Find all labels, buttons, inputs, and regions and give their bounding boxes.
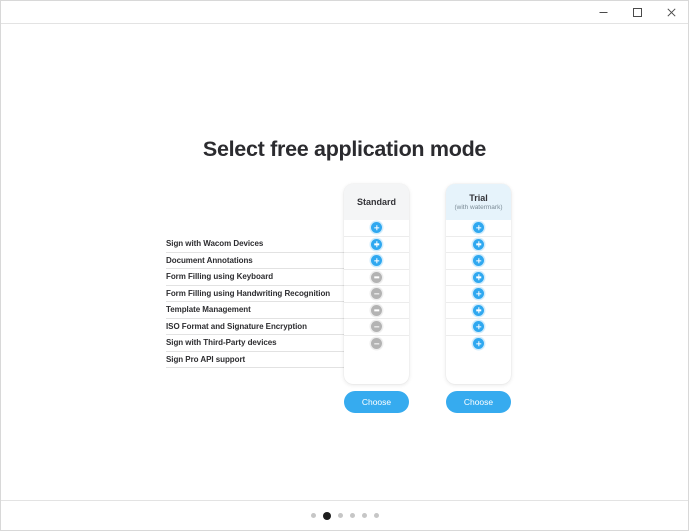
plan-feature-column-trial: [446, 220, 511, 352]
plus-icon: [473, 239, 484, 250]
feature-cell-trial: [446, 286, 511, 303]
plus-icon: [473, 338, 484, 349]
feature-label: Template Management: [166, 305, 251, 314]
feature-row: ISO Format and Signature Encryption: [166, 319, 346, 336]
pager-dot[interactable]: [311, 513, 316, 518]
plus-icon: [473, 222, 484, 233]
feature-cell-trial: [446, 270, 511, 287]
feature-cell-trial: [446, 319, 511, 336]
feature-cell-standard: [344, 220, 409, 237]
plan-title-standard: Standard: [357, 197, 396, 207]
feature-label: Document Annotations: [166, 256, 253, 265]
feature-row: Form Filling using Handwriting Recogniti…: [166, 286, 346, 303]
feature-cell-standard: [344, 286, 409, 303]
feature-cell-trial: [446, 336, 511, 353]
feature-label: Sign with Wacom Devices: [166, 239, 263, 248]
plan-title-trial: Trial: [469, 193, 488, 203]
content-area: Select free application mode Sign with W…: [1, 24, 688, 500]
maximize-button[interactable]: [620, 1, 654, 23]
close-icon: [666, 7, 677, 18]
plus-icon: [371, 222, 382, 233]
feature-cell-trial: [446, 237, 511, 254]
feature-label: Sign Pro API support: [166, 355, 245, 364]
minimize-icon: [598, 7, 609, 18]
plus-icon: [473, 272, 484, 283]
feature-cell-trial: [446, 220, 511, 237]
feature-cell-standard: [344, 237, 409, 254]
pager-dot-active[interactable]: [323, 512, 331, 520]
choose-standard-button[interactable]: Choose: [344, 391, 409, 413]
feature-cell-trial: [446, 303, 511, 320]
feature-cell-standard: [344, 319, 409, 336]
plus-icon: [473, 288, 484, 299]
feature-cell-standard: [344, 253, 409, 270]
title-bar: [1, 1, 688, 24]
choose-trial-button[interactable]: Choose: [446, 391, 511, 413]
feature-row: Template Management: [166, 302, 346, 319]
feature-label: ISO Format and Signature Encryption: [166, 322, 307, 331]
plan-feature-column-standard: [344, 220, 409, 352]
plan-subtitle-trial: (with watermark): [454, 204, 502, 211]
pager-dots: [311, 512, 379, 520]
pager-dot[interactable]: [374, 513, 379, 518]
plus-icon: [371, 239, 382, 250]
plan-header-trial: Trial (with watermark): [446, 184, 511, 220]
feature-row: Form Filling using Keyboard: [166, 269, 346, 286]
feature-row: Sign with Wacom Devices: [166, 236, 346, 253]
close-button[interactable]: [654, 1, 688, 23]
feature-cell-standard: [344, 336, 409, 353]
plan-card-trial: Trial (with watermark): [446, 184, 511, 384]
minus-icon: [371, 321, 382, 332]
plus-icon: [473, 255, 484, 266]
feature-label-column: Sign with Wacom DevicesDocument Annotati…: [166, 236, 346, 368]
application-window: Select free application mode Sign with W…: [0, 0, 689, 531]
plus-icon: [473, 305, 484, 316]
minus-icon: [371, 338, 382, 349]
feature-label: Form Filling using Handwriting Recogniti…: [166, 289, 330, 298]
minimize-button[interactable]: [586, 1, 620, 23]
plus-icon: [371, 255, 382, 266]
minus-icon: [371, 272, 382, 283]
plus-icon: [473, 321, 484, 332]
feature-cell-standard: [344, 270, 409, 287]
plan-header-standard: Standard: [344, 184, 409, 220]
plan-comparison: Sign with Wacom DevicesDocument Annotati…: [166, 184, 516, 414]
feature-label: Sign with Third-Party devices: [166, 338, 277, 347]
maximize-icon: [632, 7, 643, 18]
minus-icon: [371, 288, 382, 299]
footer: [1, 500, 688, 530]
feature-label: Form Filling using Keyboard: [166, 272, 273, 281]
page-title: Select free application mode: [1, 137, 688, 162]
feature-cell-trial: [446, 253, 511, 270]
minus-icon: [371, 305, 382, 316]
pager-dot[interactable]: [350, 513, 355, 518]
feature-row: Sign with Third-Party devices: [166, 335, 346, 352]
plan-card-standard: Standard: [344, 184, 409, 384]
pager-dot[interactable]: [338, 513, 343, 518]
pager-dot[interactable]: [362, 513, 367, 518]
feature-row: Sign Pro API support: [166, 352, 346, 369]
feature-row: Document Annotations: [166, 253, 346, 270]
feature-cell-standard: [344, 303, 409, 320]
